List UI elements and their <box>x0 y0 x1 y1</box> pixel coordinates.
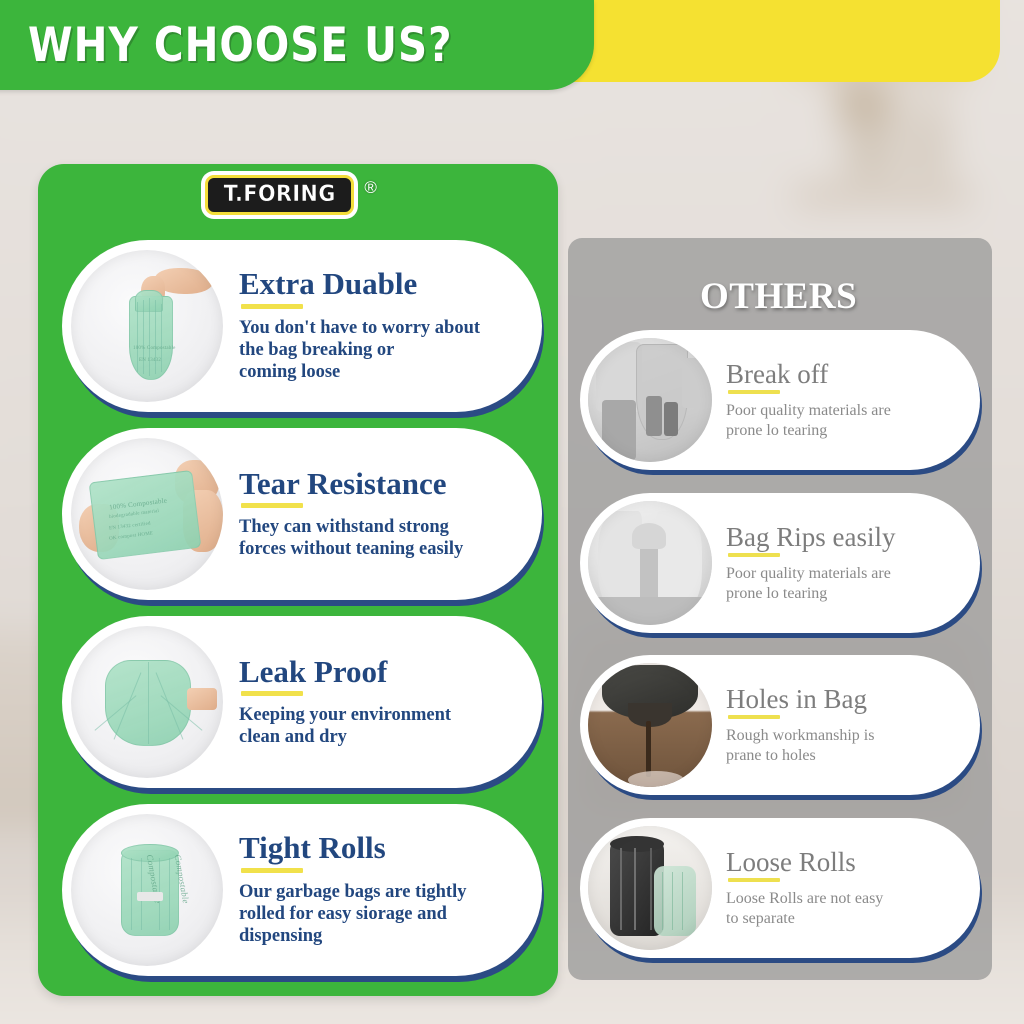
infographic-canvas: WHY CHOOSE US? OTHERS T.FORING ® 100% Co… <box>0 0 1024 1024</box>
page-title: WHY CHOOSE US? <box>28 18 453 73</box>
title-underline-accent <box>728 390 780 394</box>
title-underline-accent <box>241 691 303 696</box>
feature-card-tight-rolls[interactable]: Compostable Compostable Tight Rolls Our … <box>62 804 542 976</box>
feature-description: You don't have to worry about the bag br… <box>239 317 480 384</box>
drawback-text-block: Bag Rips easily Poor quality materials a… <box>712 523 912 602</box>
title-underline-accent <box>728 715 780 719</box>
feature-text-block: Leak Proof Keeping your environment clea… <box>223 656 473 749</box>
feature-image-green-bag-roll: Compostable Compostable <box>71 814 223 966</box>
title-underline-accent <box>728 878 780 882</box>
drawback-card-loose-rolls[interactable]: Loose Rolls Loose Rolls are not easy to … <box>580 818 980 958</box>
drawback-description: Loose Rolls are not easy to separate <box>726 889 883 927</box>
others-panel-title: OTHERS <box>700 275 857 318</box>
feature-card-leak-proof[interactable]: Leak Proof Keeping your environment clea… <box>62 616 542 788</box>
drawback-description: Rough workmanship is prane to holes <box>726 726 874 764</box>
title-underline-accent <box>241 503 303 508</box>
title-underline-accent <box>728 553 780 557</box>
feature-description: Keeping your environment clean and dry <box>239 704 451 749</box>
feature-title: Leak Proof <box>239 656 451 688</box>
feature-text-block: Tight Rolls Our garbage bags are tightly… <box>223 832 488 947</box>
feature-title: Extra Duable <box>239 268 480 300</box>
feature-text-block: Extra Duable You don't have to worry abo… <box>223 268 502 383</box>
title-underline-accent <box>241 304 303 309</box>
feature-description: They can withstand strong forces without… <box>239 516 463 561</box>
feature-text-block: Tear Resistance They can withstand stron… <box>223 468 485 561</box>
registered-trademark-icon: ® <box>364 178 377 198</box>
drawback-image-loose-black-roll <box>588 826 712 950</box>
drawback-text-block: Break off Poor quality materials are pro… <box>712 360 907 439</box>
drawback-card-bag-rips-easily[interactable]: Bag Rips easily Poor quality materials a… <box>580 493 980 633</box>
drawback-card-holes-in-bag[interactable]: Holes in Bag Rough workmanship is prane … <box>580 655 980 795</box>
feature-title: Tight Rolls <box>239 832 466 864</box>
brand-logo: T.FORING ® <box>205 175 377 215</box>
drawback-title: Bag Rips easily <box>726 523 896 551</box>
drawback-text-block: Loose Rolls Loose Rolls are not easy to … <box>712 848 899 927</box>
drawback-title: Break off <box>726 360 891 388</box>
feature-image-hands-stretching-green-bag: 100% Compostable biodegradable material … <box>71 438 223 590</box>
feature-card-extra-duable[interactable]: 100% Compostable EN 13432 Extra Duable Y… <box>62 240 542 412</box>
logo-plate: T.FORING <box>205 175 354 215</box>
drawback-card-break-off[interactable]: Break off Poor quality materials are pro… <box>580 330 980 470</box>
drawback-description: Poor quality materials are prone lo tear… <box>726 564 896 602</box>
feature-description: Our garbage bags are tightly rolled for … <box>239 881 466 948</box>
drawback-image-dark-bag-leaking <box>588 663 712 787</box>
drawback-image-clear-bag-breaking <box>588 338 712 462</box>
feature-image-hand-holding-green-bag: 100% Compostable EN 13432 <box>71 250 223 402</box>
drawback-image-white-bag-ripping <box>588 501 712 625</box>
feature-title: Tear Resistance <box>239 468 463 500</box>
feature-card-tear-resistance[interactable]: 100% Compostable biodegradable material … <box>62 428 542 600</box>
title-underline-accent <box>241 868 303 873</box>
drawback-text-block: Holes in Bag Rough workmanship is prane … <box>712 685 890 764</box>
drawback-description: Poor quality materials are prone lo tear… <box>726 401 891 439</box>
drawback-title: Loose Rolls <box>726 848 883 876</box>
drawback-title: Holes in Bag <box>726 685 874 713</box>
feature-image-green-bag-holding-water <box>71 626 223 778</box>
logo-text: T.FORING <box>224 182 336 207</box>
